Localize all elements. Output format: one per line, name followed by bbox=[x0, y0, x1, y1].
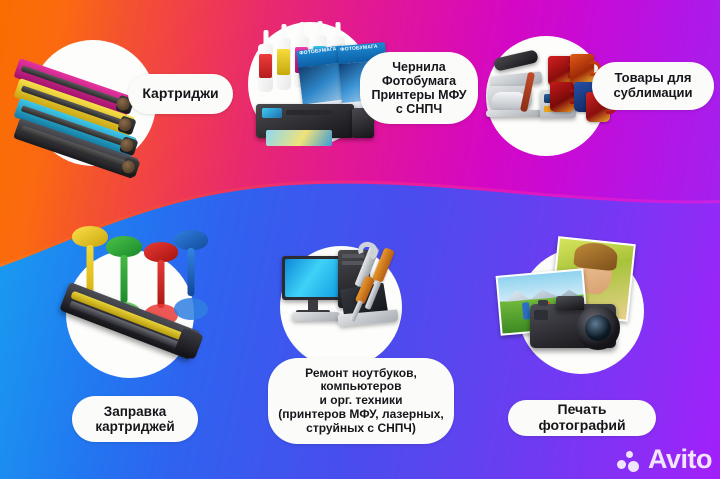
photos-dslr-camera-photo bbox=[494, 240, 664, 370]
monitor-pc-laptop-tools-photo bbox=[276, 242, 416, 362]
avito-watermark: Avito bbox=[617, 446, 712, 473]
avito-dots-logo bbox=[617, 449, 643, 471]
label-repair[interactable]: Ремонт ноутбуков, компьютеров и орг. тех… bbox=[268, 358, 454, 444]
label-sublimation[interactable]: Товары для сублимации bbox=[592, 62, 714, 110]
advertisement-poster: Картриджи bbox=[0, 0, 720, 479]
label-cartridge-refill[interactable]: Заправка картриджей bbox=[72, 396, 198, 442]
paint-buckets-toner-cartridge-photo bbox=[58, 226, 208, 366]
avito-wordmark: Avito bbox=[648, 446, 712, 473]
label-cartridges[interactable]: Картриджи bbox=[128, 74, 233, 114]
label-ink-paper-printers[interactable]: Чернила Фотобумага Принтеры МФУ с СНПЧ bbox=[360, 52, 478, 124]
label-photo-printing[interactable]: Печать фотографий bbox=[508, 400, 656, 436]
